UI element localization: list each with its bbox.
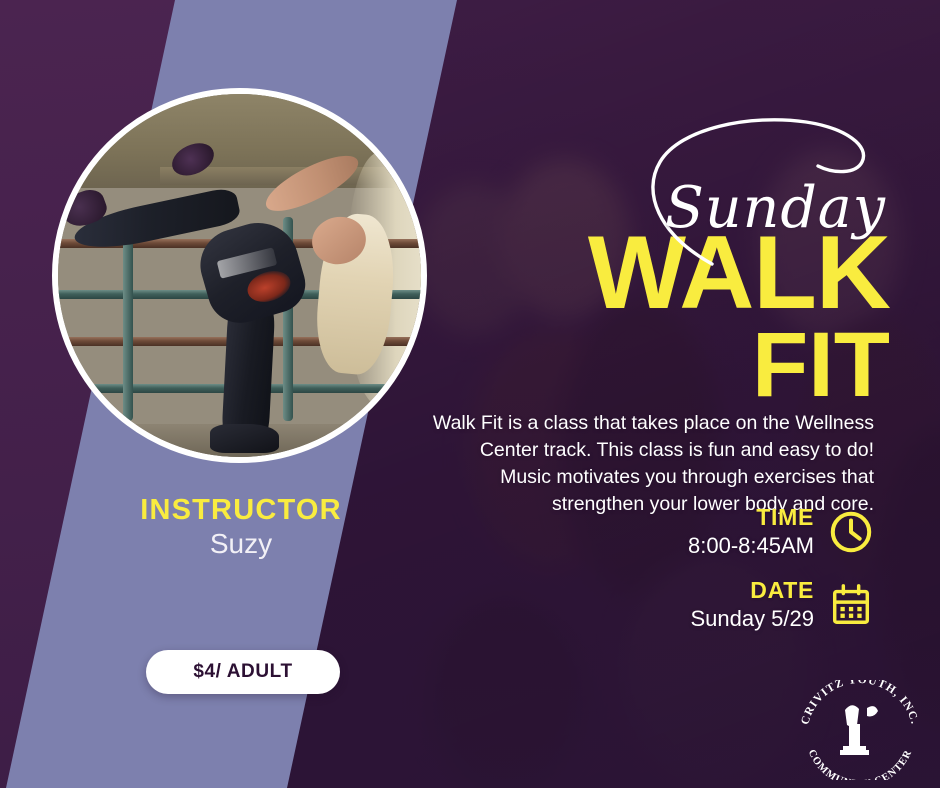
- script-word: Sunday: [665, 180, 886, 237]
- price-label: $4/ ADULT: [193, 661, 292, 683]
- date-value: Sunday 5/29: [690, 605, 814, 633]
- calendar-icon: [828, 582, 874, 628]
- script-word-row: Sunday: [490, 118, 890, 236]
- time-value: 8:00-8:45AM: [688, 532, 814, 560]
- photo-rail-post: [123, 217, 133, 420]
- date-label: DATE: [690, 578, 814, 603]
- athlete-standing-shoe: [210, 424, 279, 453]
- instructor-photo: [52, 88, 427, 463]
- instructor-name: Suzy: [105, 529, 377, 560]
- instructor-block: INSTRUCTOR Suzy: [105, 495, 377, 560]
- description-text: Walk Fit is a class that takes place on …: [430, 410, 874, 518]
- time-row: TIME 8:00-8:45AM: [500, 505, 874, 560]
- headline-line-2: FIT: [490, 323, 890, 408]
- logo-top-text: CRIVITZ YOUTH, INC.: [799, 680, 920, 726]
- instructor-label: INSTRUCTOR: [105, 495, 377, 525]
- time-label: TIME: [688, 505, 814, 530]
- price-badge[interactable]: $4/ ADULT: [146, 650, 340, 694]
- headline-block: Sunday WALK FIT: [490, 118, 890, 408]
- organization-logo: CRIVITZ YOUTH, INC. COMMUNITY CENTER: [795, 680, 925, 780]
- logo-mark: [840, 705, 878, 755]
- time-text: TIME 8:00-8:45AM: [688, 505, 814, 560]
- flyer-canvas: INSTRUCTOR Suzy $4/ ADULT Sunday WALK FI…: [0, 0, 940, 788]
- date-text: DATE Sunday 5/29: [690, 578, 814, 633]
- date-row: DATE Sunday 5/29: [500, 578, 874, 633]
- clock-icon: [828, 509, 874, 555]
